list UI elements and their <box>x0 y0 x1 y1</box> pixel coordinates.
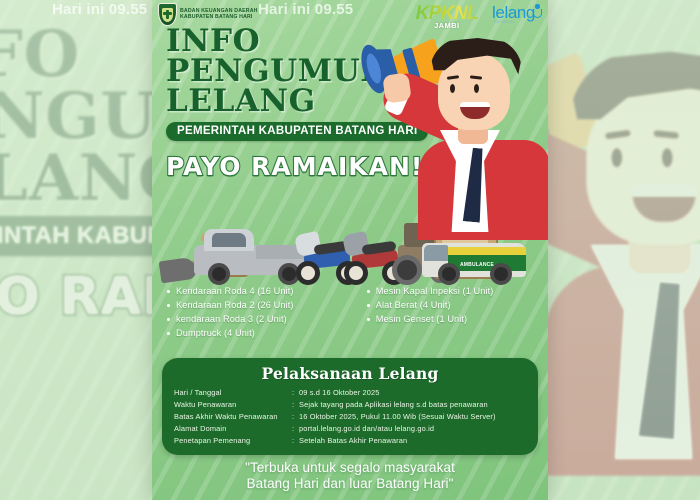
list-item: Mesin Kapal Inpeksi (1 Unit) <box>366 285 538 299</box>
list-item: Kendaraan Roda 2 (26 Unit) <box>166 299 360 313</box>
hand <box>382 72 412 103</box>
bkd-logo-line2: KABUPATEN BATANG HARI <box>180 15 258 21</box>
schedule-value: Setelah Batas Akhir Penawaran <box>299 435 407 447</box>
schedule-label: Penetapan Pemenang <box>174 435 292 447</box>
list-item: Kendaraan Roda 4 (16 Unit) <box>166 285 360 299</box>
logo-row: BADAN KEUANGAN DAERAH KABUPATEN BATANG H… <box>152 2 548 36</box>
quote-line-2: Batang Hari dan luar Batang Hari" <box>152 476 548 492</box>
schedule-value[interactable]: portal.lelang.go.id dan/atau lelang.go.i… <box>299 423 434 435</box>
list-item: Mesin Genset (1 Unit) <box>366 313 538 327</box>
person-icon <box>533 4 542 19</box>
poster-card: BADAN KEUANGAN DAERAH KABUPATEN BATANG H… <box>152 0 548 500</box>
eye-right <box>474 84 479 93</box>
kpknl-logo: KPKNL JAMBI <box>416 4 478 30</box>
schedule-panel-title: Pelaksanaan Lelang <box>174 364 526 383</box>
items-list-left: Kendaraan Roda 4 (16 Unit) Kendaraan Rod… <box>166 285 360 357</box>
schedule-label: Waktu Penawaran <box>174 399 292 411</box>
watermark-time-left: Hari ini 09.55 <box>52 1 147 18</box>
schedule-separator: : <box>292 423 299 435</box>
list-item: Alat Berat (4 Unit) <box>366 299 538 313</box>
ambulance-label: AMBULANCE <box>460 262 494 268</box>
schedule-panel: Pelaksanaan Lelang Hari / Tanggal : 09 s… <box>162 358 538 455</box>
schedule-label: Batas Akhir Waktu Penawaran <box>174 411 292 423</box>
lelang-logo: lelang INDONESIA <box>492 4 542 21</box>
bkd-logo: BADAN KEUANGAN DAERAH KABUPATEN BATANG H… <box>158 3 258 26</box>
schedule-value: 09 s.d 16 Oktober 2025 <box>299 387 380 399</box>
screenshot-root: BADAN KEUANGAN DAERAH KABUPATEN BATANG H… <box>0 0 700 500</box>
lelang-tagline: INDONESIA <box>494 20 515 24</box>
schedule-value: 16 Oktober 2025, Pukul 11.00 Wib (Sesuai… <box>299 411 496 423</box>
schedule-separator: : <box>292 399 299 411</box>
schedule-row: Penetapan Pemenang : Setelah Batas Akhir… <box>174 435 526 447</box>
quote-line-1: "Terbuka untuk segalo masyarakat <box>152 460 548 476</box>
schedule-row: Hari / Tanggal : 09 s.d 16 Oktober 2025 <box>174 387 526 399</box>
schedule-separator: : <box>292 411 299 423</box>
list-item: kendaraan Roda 3 (2 Unit) <box>166 313 360 327</box>
eye-left <box>450 84 455 93</box>
schedule-row: Batas Akhir Waktu Penawaran : 16 Oktober… <box>174 411 526 423</box>
schedule-label: Hari / Tanggal <box>174 387 292 399</box>
ambulance-image: AMBULANCE <box>422 233 526 285</box>
lelang-wordmark: lelang <box>492 4 535 21</box>
closing-quote: "Terbuka untuk segalo masyarakat Batang … <box>152 460 548 492</box>
schedule-label: Alamat Domain <box>174 423 292 435</box>
list-item: Dumptruck (4 Unit) <box>166 327 360 341</box>
items-list-right: Mesin Kapal Inpeksi (1 Unit) Alat Berat … <box>366 285 538 357</box>
schedule-value: Sejak tayang pada Aplikasi lelang s.d ba… <box>299 399 488 411</box>
megaphone-man-illustration <box>354 22 548 237</box>
schedule-separator: : <box>292 387 299 399</box>
shield-icon <box>158 3 177 26</box>
schedule-row: Waktu Penawaran : Sejak tayang pada Apli… <box>174 399 526 411</box>
schedule-separator: : <box>292 435 299 447</box>
schedule-row: Alamat Domain : portal.lelang.go.id dan/… <box>174 423 526 435</box>
items-lists: Kendaraan Roda 4 (16 Unit) Kendaraan Rod… <box>152 285 548 357</box>
